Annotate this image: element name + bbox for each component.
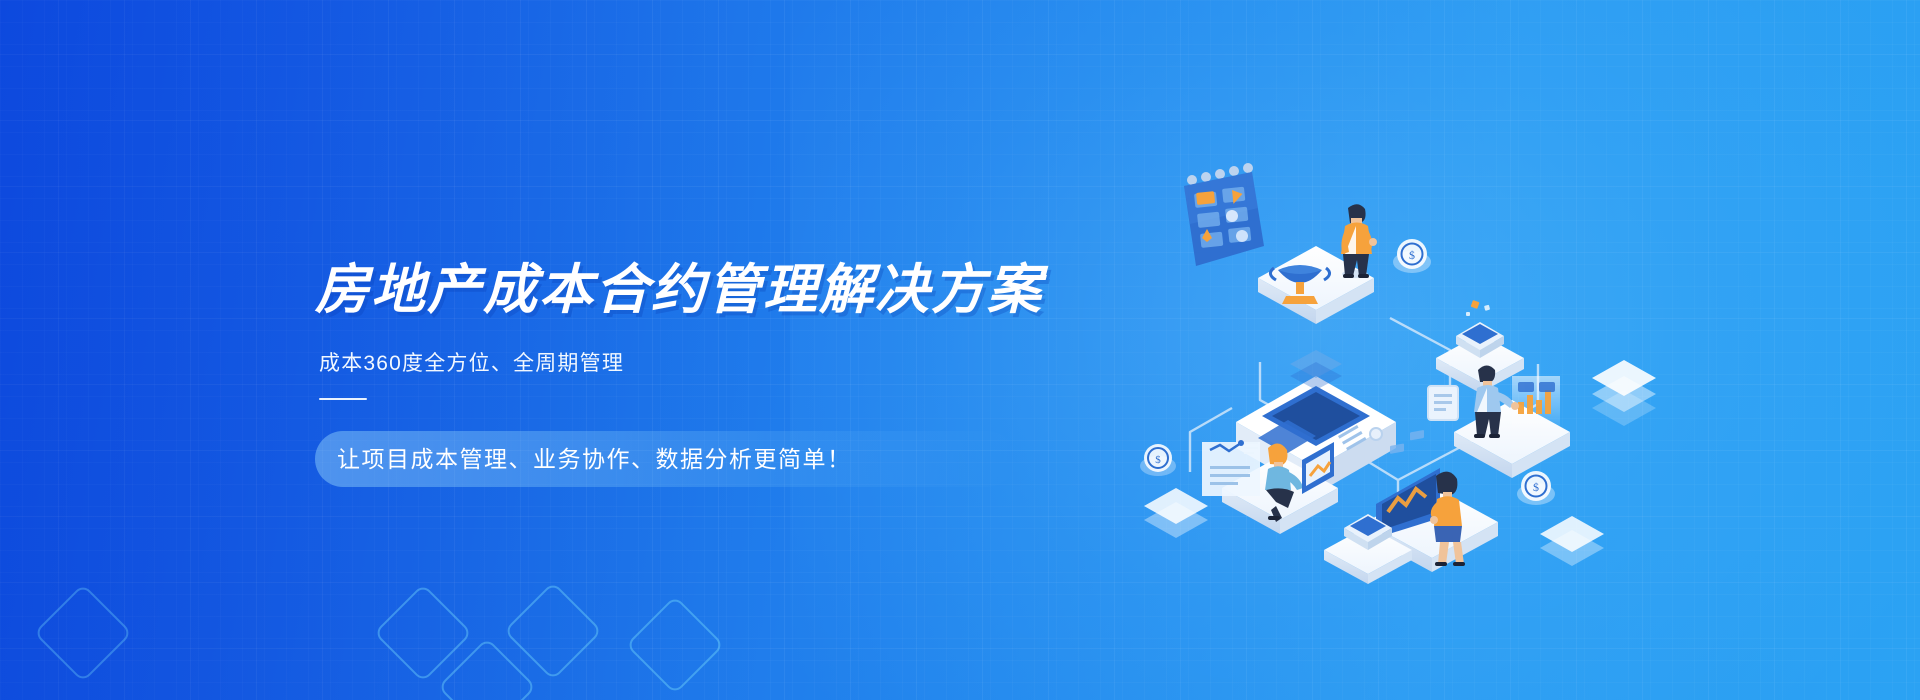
svg-text:$: $ bbox=[1533, 480, 1539, 494]
decorative-diamond bbox=[438, 638, 537, 700]
dollar-coin-lower: $ bbox=[1517, 471, 1555, 505]
decorative-diamond bbox=[34, 584, 133, 683]
chart-screen-ghost bbox=[1512, 376, 1560, 426]
decorative-diamond bbox=[626, 596, 725, 695]
tagline-text: 让项目成本管理、业务协作、数据分析更简单！ bbox=[337, 446, 852, 472]
decorative-diamond bbox=[504, 582, 603, 681]
tagline-pill: 让项目成本管理、业务协作、数据分析更简单！ bbox=[315, 431, 1015, 487]
svg-text:$: $ bbox=[1409, 248, 1415, 262]
dollar-coin: $ bbox=[1393, 239, 1431, 273]
svg-text:$: $ bbox=[1155, 454, 1161, 466]
floating-tile-bottom-right bbox=[1540, 516, 1604, 566]
document-card bbox=[1428, 386, 1458, 420]
hero-illustration: $ bbox=[1140, 150, 1700, 550]
standing-man-orange-jacket bbox=[1341, 204, 1377, 278]
floating-tile-right bbox=[1592, 360, 1656, 426]
document-sheet-left bbox=[1202, 440, 1260, 496]
title-divider-rule bbox=[319, 398, 367, 400]
hero-banner: 房地产成本合约管理解决方案 成本360度全方位、全周期管理 让项目成本管理、业务… bbox=[0, 0, 1920, 700]
calendar-board bbox=[1184, 163, 1264, 266]
dollar-coin-left: $ bbox=[1140, 444, 1176, 476]
stacked-tiles-bottom-left bbox=[1144, 488, 1208, 538]
decorative-diamond bbox=[374, 584, 473, 683]
